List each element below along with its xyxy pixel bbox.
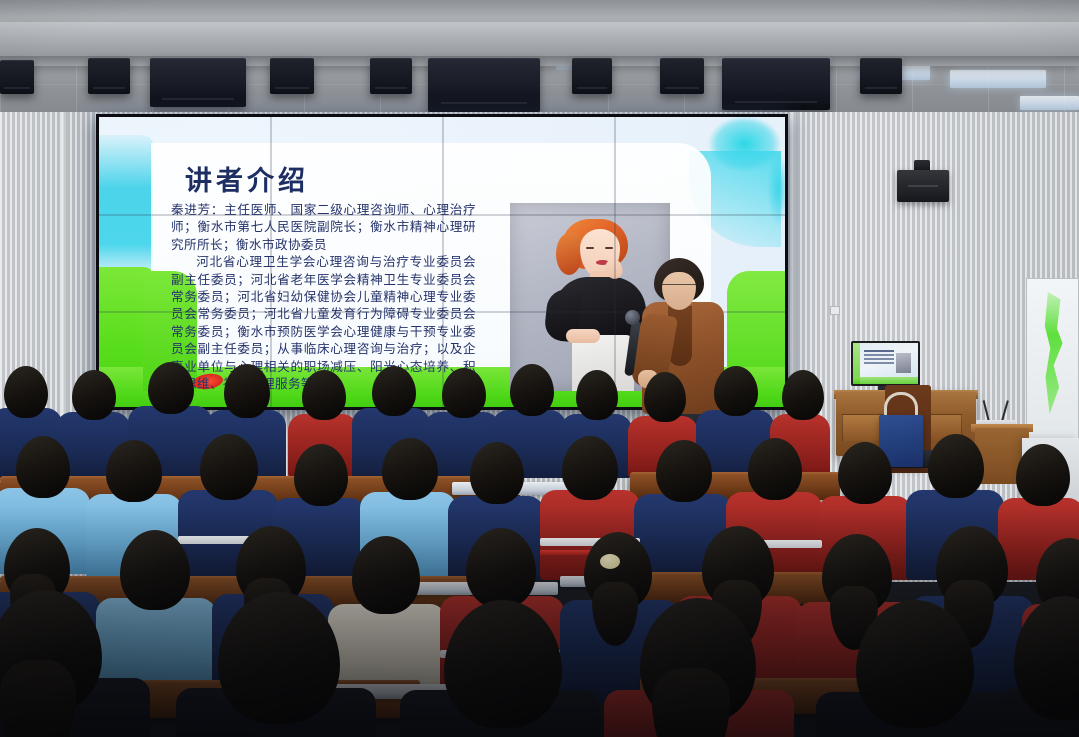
student-head (576, 370, 618, 420)
ceiling-light-fixture (428, 58, 540, 112)
student-head (148, 362, 194, 414)
student-head (644, 372, 686, 422)
student-head (294, 444, 348, 506)
ceiling-light-fixture (88, 58, 130, 94)
student-head (4, 366, 48, 418)
ceiling-panel-light (1020, 96, 1079, 110)
student-head (382, 438, 438, 500)
ceiling-light-fixture (370, 58, 412, 94)
student-head (466, 528, 536, 608)
student-ponytail (652, 668, 730, 737)
ceiling (0, 0, 1079, 118)
audience (0, 360, 1079, 737)
ceiling-light-fixture (860, 58, 902, 94)
student-head (656, 440, 712, 502)
wall-speaker-icon (897, 170, 949, 202)
glasses-icon (662, 284, 696, 291)
student-head (224, 364, 270, 418)
student-head (748, 438, 802, 500)
student-head (200, 434, 258, 500)
student-head (302, 370, 346, 420)
student-head (714, 366, 758, 416)
student-head (782, 370, 824, 420)
ceiling-panel-light (950, 70, 1046, 88)
ceiling-light-fixture (150, 58, 246, 107)
hair-scrunchie (600, 554, 620, 569)
student-head (562, 436, 618, 500)
ceiling-light-fixture (270, 58, 314, 94)
student-head (510, 364, 554, 416)
monitor-slide-text-lines (864, 350, 894, 352)
student-head (470, 442, 524, 504)
ceiling-light-fixture (572, 58, 612, 94)
student-head (106, 440, 162, 502)
student-head (838, 442, 892, 504)
ceiling-light-fixture (722, 58, 830, 110)
ceiling-light-fixture (0, 60, 34, 94)
student-head (928, 434, 984, 498)
student-head (72, 370, 116, 420)
ceiling-upper-band (0, 0, 1079, 22)
microphone-head-icon (625, 310, 640, 325)
student-ponytail (0, 660, 76, 737)
lecture-hall-photo: 讲者介绍 秦进芳：主任医师、国家二级心理咨询师、心理治疗师；衡水市第七人民医院副… (0, 0, 1079, 737)
student-head (16, 436, 70, 498)
wall-switch-plate[interactable] (830, 306, 840, 315)
student-head (120, 530, 190, 610)
student-head (372, 366, 416, 416)
ceiling-light-fixture (660, 58, 704, 94)
student-head (352, 536, 420, 614)
student-head (442, 368, 486, 418)
student-head (1016, 444, 1070, 506)
